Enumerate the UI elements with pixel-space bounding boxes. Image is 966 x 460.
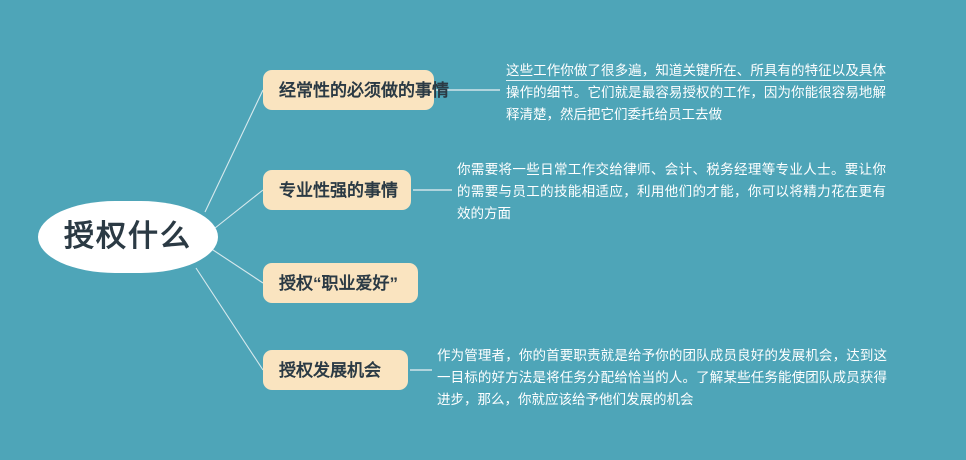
branch-node-2-label: 授权“职业爱好” (279, 275, 398, 292)
connector-central-to-branch-0 (205, 90, 263, 212)
branch-node-2[interactable]: 授权“职业爱好” (263, 263, 418, 303)
central-node-label: 授权什么 (64, 222, 192, 252)
description-underline-rule (506, 80, 884, 81)
branch-node-0-label: 经常性的必须做的事情 (279, 82, 449, 99)
branch-node-1[interactable]: 专业性强的事情 (263, 170, 411, 210)
connector-central-to-branch-1 (210, 190, 263, 232)
branch-node-1-label: 专业性强的事情 (279, 182, 398, 199)
branch-node-3-description: 作为管理者，你的首要职责就是给予你的团队成员良好的发展机会，达到这一目标的好方法… (437, 345, 887, 411)
connector-central-to-branch-3 (196, 268, 263, 370)
branch-node-3-description-text: 作为管理者，你的首要职责就是给予你的团队成员良好的发展机会，达到这一目标的好方法… (437, 348, 887, 407)
connector-central-to-branch-2 (210, 248, 263, 283)
mindmap-canvas: 授权什么 经常性的必须做的事情 专业性强的事情 授权“职业爱好” 授权发展机会 … (0, 0, 966, 460)
branch-node-3-label: 授权发展机会 (279, 362, 381, 379)
branch-node-0-description-text: 这些工作你做了很多遍，知道关键所在、所具有的特征以及具体操作的细节。它们就是最容… (506, 63, 886, 122)
central-node[interactable]: 授权什么 (38, 201, 218, 273)
branch-node-3[interactable]: 授权发展机会 (263, 350, 408, 390)
branch-node-0[interactable]: 经常性的必须做的事情 (263, 70, 434, 110)
branch-node-0-description: 这些工作你做了很多遍，知道关键所在、所具有的特征以及具体操作的细节。它们就是最容… (506, 60, 886, 126)
branch-node-1-description-text: 你需要将一些日常工作交给律师、会计、税务经理等专业人士。要让你的需要与员工的技能… (457, 162, 886, 221)
branch-node-1-description: 你需要将一些日常工作交给律师、会计、税务经理等专业人士。要让你的需要与员工的技能… (457, 159, 886, 225)
